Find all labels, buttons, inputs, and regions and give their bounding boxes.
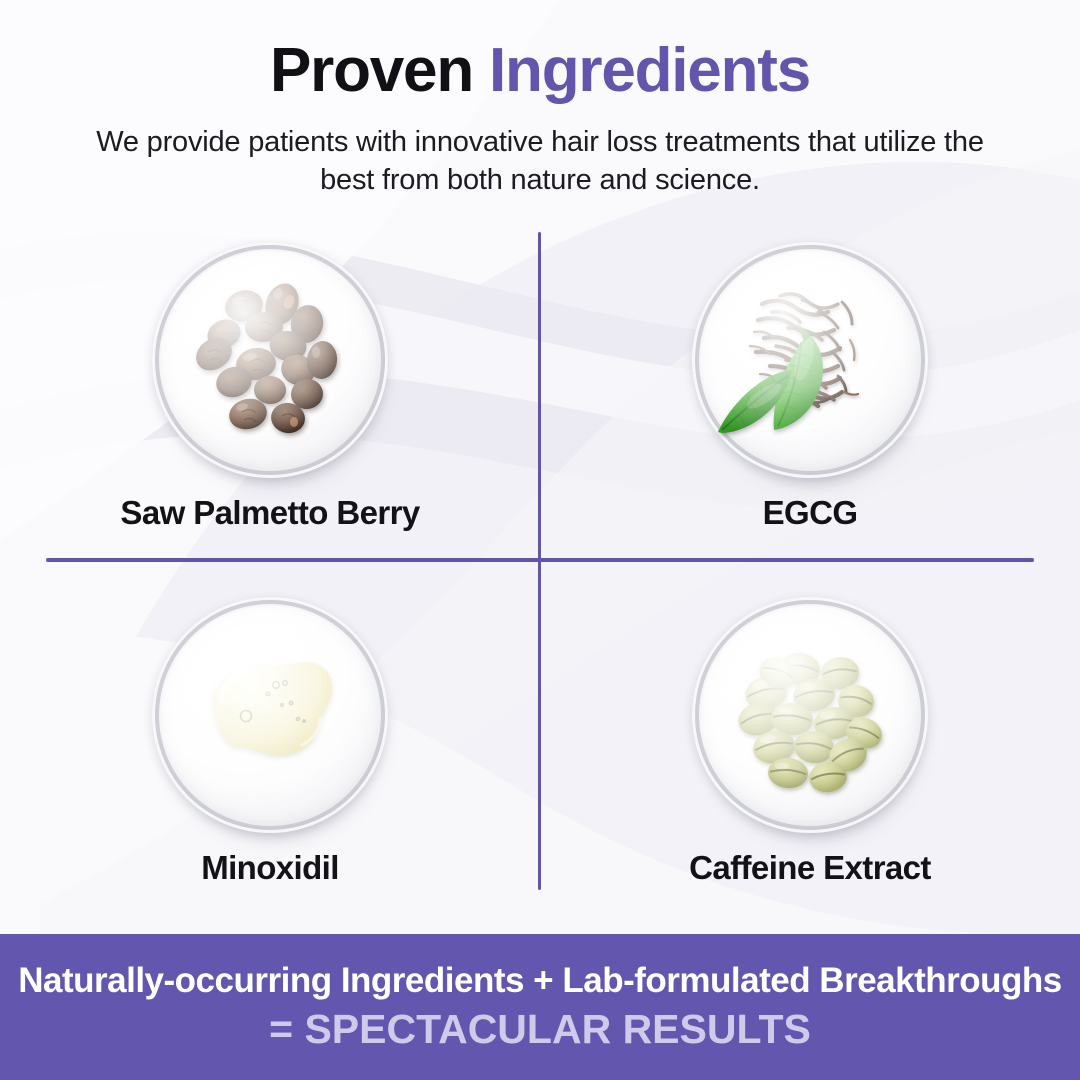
petri-dish-egcg xyxy=(688,240,932,484)
bottom-banner: Naturally-occurring Ingredients + Lab-fo… xyxy=(0,934,1080,1080)
ingredient-label: Caffeine Extract xyxy=(540,849,1080,887)
ingredient-cell-egcg[interactable]: EGCG xyxy=(540,232,1080,582)
ingredient-grid: Saw Palmetto Berry xyxy=(0,232,1080,932)
dish-glass xyxy=(692,242,928,478)
banner-line-2: = SPECTACULAR RESULTS xyxy=(269,1006,811,1053)
minoxidil-liquid-icon xyxy=(152,597,388,833)
petri-dish-caffeine-extract xyxy=(688,595,932,839)
page-title: Proven Ingredients xyxy=(0,0,1080,103)
ingredient-cell-caffeine-extract[interactable]: Caffeine Extract xyxy=(540,587,1080,937)
banner-line-1: Naturally-occurring Ingredients + Lab-fo… xyxy=(18,961,1061,1001)
ingredient-label: EGCG xyxy=(540,494,1080,532)
petri-dish-minoxidil xyxy=(148,595,392,839)
green-coffee-beans-icon xyxy=(692,597,928,833)
dish-glass xyxy=(152,242,388,478)
green-tea-leaves-icon xyxy=(692,242,928,478)
page-title-plain: Proven xyxy=(270,36,489,105)
dish-glass xyxy=(152,597,388,833)
ingredient-cell-saw-palmetto-berry[interactable]: Saw Palmetto Berry xyxy=(0,232,540,582)
ingredient-label: Minoxidil xyxy=(0,849,540,887)
page-title-accent: Ingredients xyxy=(489,36,810,105)
page-subtitle: We provide patients with innovative hair… xyxy=(75,103,1005,200)
ingredient-cell-minoxidil[interactable]: Minoxidil xyxy=(0,587,540,937)
infographic-canvas: Proven Ingredients We provide patients w… xyxy=(0,0,1080,1080)
header: Proven Ingredients We provide patients w… xyxy=(0,0,1080,200)
dish-glass xyxy=(692,597,928,833)
saw-palmetto-berries-icon xyxy=(152,242,388,478)
petri-dish-saw-palmetto-berry xyxy=(148,240,392,484)
ingredient-label: Saw Palmetto Berry xyxy=(0,494,540,532)
